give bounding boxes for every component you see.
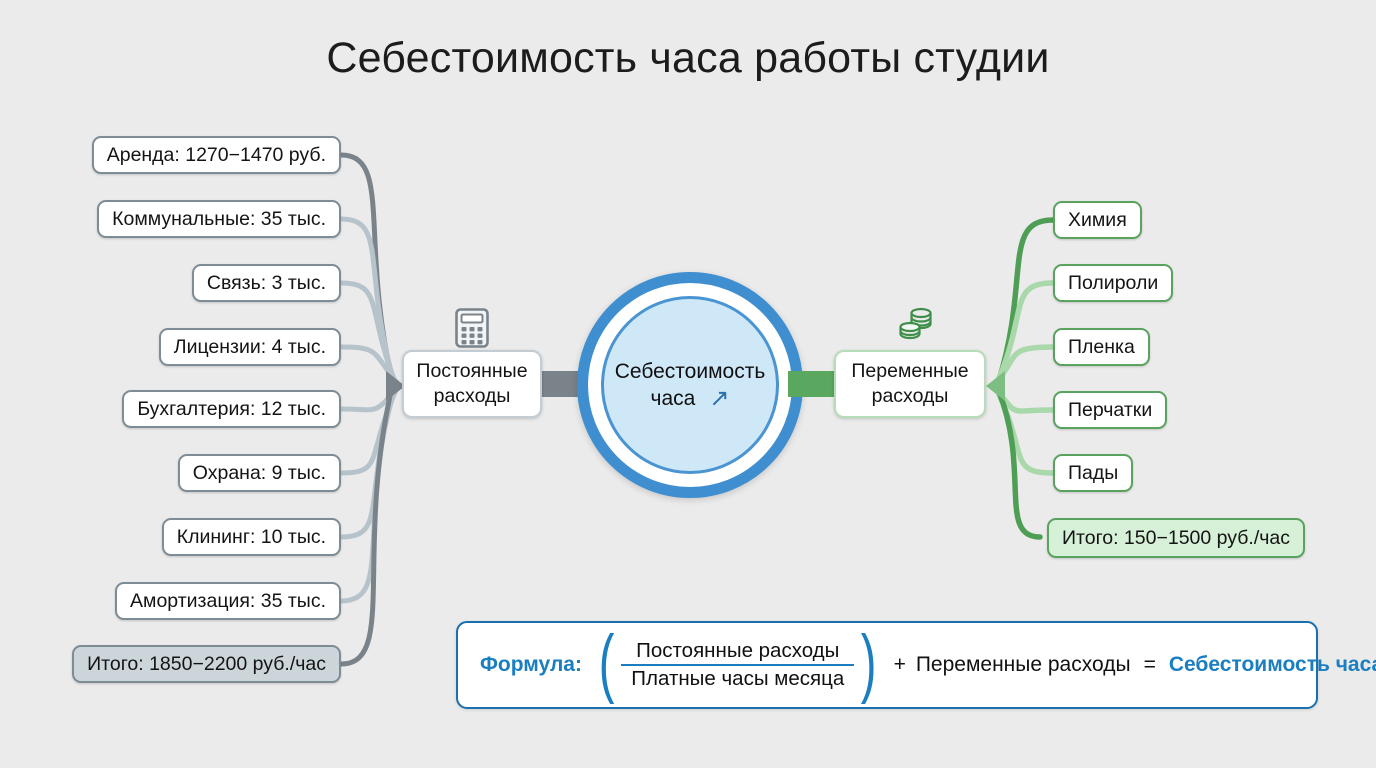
list-item: Связь: 3 тыс.	[192, 264, 341, 302]
equals-operator: =	[1144, 653, 1156, 677]
node-label: Коммунальные: 35 тыс.	[112, 208, 326, 231]
trend-up-arrow-icon: ↗	[709, 387, 729, 411]
page-title: Себестоимость часа работы студии	[0, 34, 1376, 83]
list-item: Охрана: 9 тыс.	[178, 454, 341, 492]
node-label: Итого: 150−1500 руб./час	[1062, 527, 1290, 550]
variable-expenses-hub[interactable]: Переменные расходы	[834, 350, 986, 418]
node-label: Клининг: 10 тыс.	[177, 526, 326, 549]
formula-label: Формула:	[480, 653, 582, 677]
node-label: Перчатки	[1068, 399, 1152, 422]
list-item: Перчатки	[1053, 391, 1167, 429]
fixed-expenses-hub[interactable]: Постоянные расходы	[402, 350, 542, 418]
node-label: Аренда: 1270−1470 руб.	[107, 144, 326, 167]
node-label: Связь: 3 тыс.	[207, 272, 326, 295]
list-item: Полироли	[1053, 264, 1173, 302]
list-item: Химия	[1053, 201, 1142, 239]
hub-label-line1: Переменные	[851, 359, 968, 384]
core-label-line2-row: часа ↗	[651, 387, 730, 411]
formula-result: Себестоимость часа	[1169, 653, 1376, 677]
list-item: Лицензии: 4 тыс.	[159, 328, 341, 366]
node-label: Химия	[1068, 209, 1127, 232]
node-label: Итого: 1850−2200 руб./час	[87, 653, 326, 676]
node-label: Лицензии: 4 тыс.	[174, 336, 326, 359]
node-label: Охрана: 9 тыс.	[193, 462, 326, 485]
node-label: Полироли	[1068, 272, 1158, 295]
list-item: Коммунальные: 35 тыс.	[97, 200, 341, 238]
list-item: Амортизация: 35 тыс.	[115, 582, 341, 620]
hub-label-line2: расходы	[434, 384, 511, 409]
coins-icon	[897, 303, 937, 350]
list-item: Бухгалтерия: 12 тыс.	[122, 390, 341, 428]
list-item: Пады	[1053, 454, 1133, 492]
core-label-line2: часа	[651, 387, 696, 411]
list-item: Аренда: 1270−1470 руб.	[92, 136, 341, 174]
hub-label-line2: расходы	[872, 384, 949, 409]
plus-operator: +	[894, 653, 906, 677]
node-label: Амортизация: 35 тыс.	[130, 590, 326, 613]
list-item: Пленка	[1053, 328, 1150, 366]
diagram-canvas: Себестоимость часа работы студии	[0, 0, 1376, 768]
fraction-denominator: Платные часы месяца	[621, 666, 854, 692]
core-circle[interactable]: Себестоимость часа ↗	[601, 296, 779, 474]
hub-label-line1: Постоянные	[416, 359, 527, 384]
calculator-icon	[453, 307, 491, 354]
core-label-line1: Себестоимость	[615, 360, 766, 384]
list-item: Клининг: 10 тыс.	[162, 518, 341, 556]
fraction: Постоянные расходы Платные часы месяца	[621, 638, 854, 692]
node-label: Бухгалтерия: 12 тыс.	[137, 398, 326, 421]
variable-branch-arrowhead	[986, 371, 1005, 401]
variable-total-node: Итого: 150−1500 руб./час	[1047, 518, 1305, 558]
node-label: Пады	[1068, 462, 1118, 485]
fixed-total-node: Итого: 1850−2200 руб./час	[72, 645, 341, 683]
formula-box: Формула: ( Постоянные расходы Платные ча…	[456, 621, 1318, 709]
fraction-numerator: Постоянные расходы	[626, 638, 849, 664]
formula-variable-term: Переменные расходы	[916, 653, 1131, 677]
node-label: Пленка	[1068, 336, 1135, 359]
